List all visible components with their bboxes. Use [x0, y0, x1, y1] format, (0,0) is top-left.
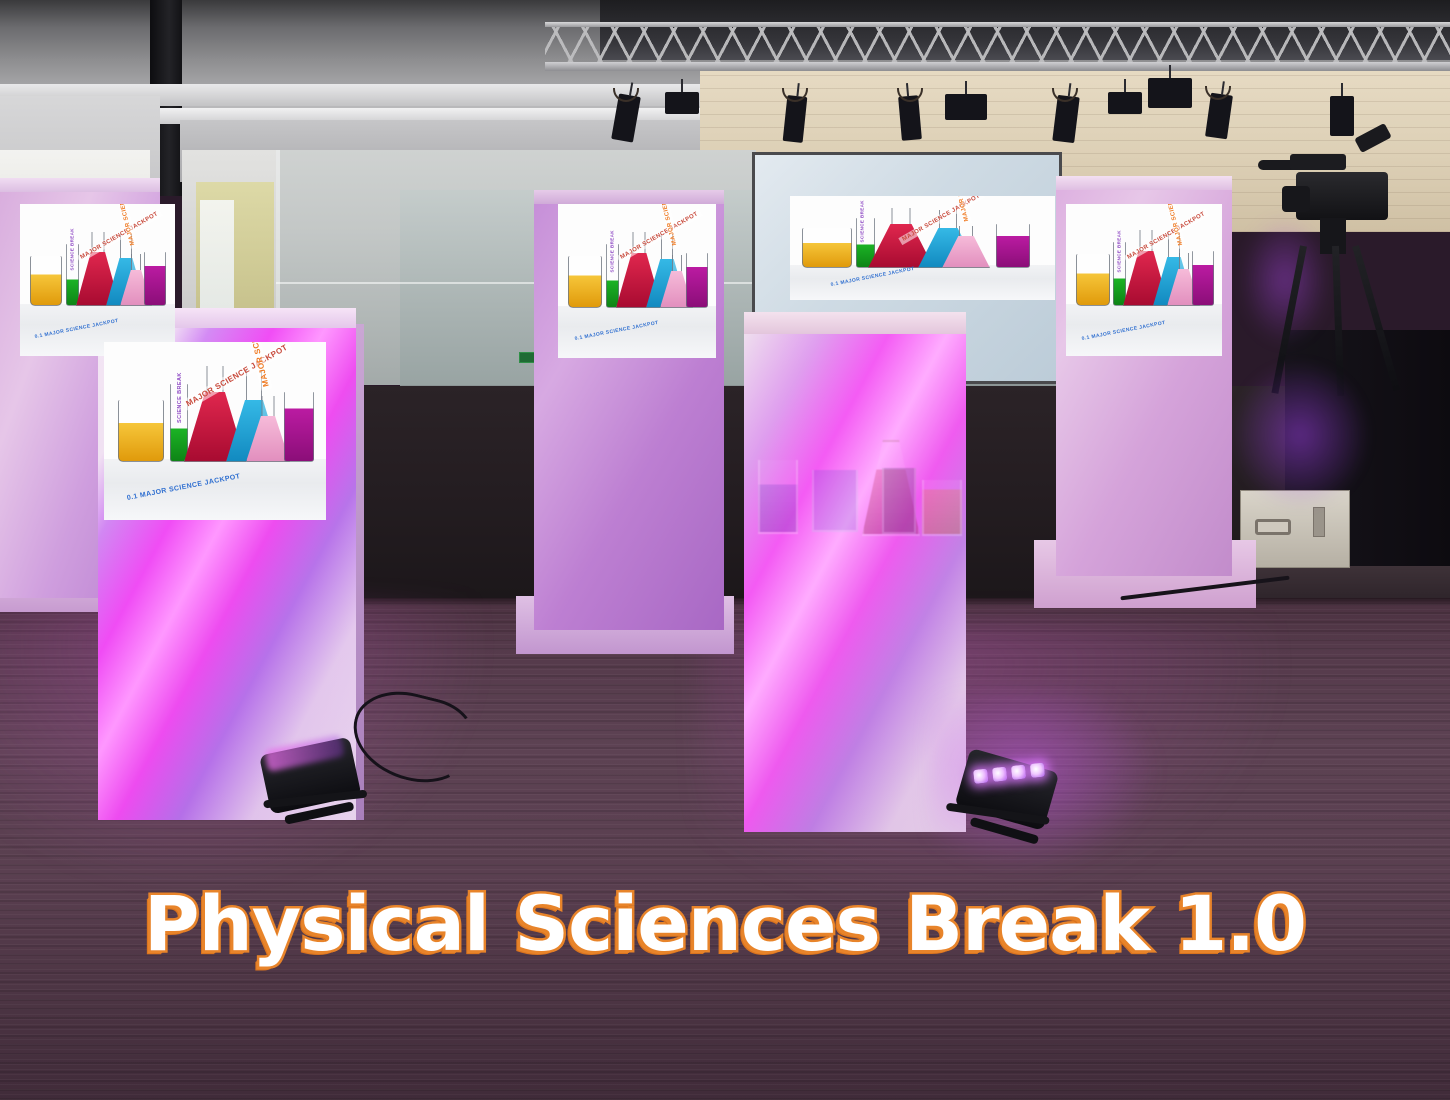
- stage-lamp-icon: [945, 94, 987, 120]
- camera-hood: [1290, 154, 1346, 170]
- science-image: MAJOR SCIENCE JACKPOT MAJOR SCIENCE BREA…: [790, 196, 1055, 300]
- stage-lamp-icon: [898, 95, 922, 141]
- led-emitter: [973, 769, 988, 784]
- beaker-amber: [1076, 254, 1110, 306]
- ghost-beaker-amber: [922, 480, 962, 536]
- science-image: MAJOR SCIENCE JACKPOT MAJOR SCIENCE BREA…: [558, 204, 716, 358]
- science-image-overlay-1: MAJOR SCIENCE JACKPOT MAJOR SCIENCE BREA…: [20, 204, 175, 356]
- bench-surface: [104, 459, 326, 520]
- led-emitter: [992, 767, 1007, 782]
- ghost-cylinder: [882, 468, 916, 534]
- science-image-overlay-4: MAJOR SCIENCE JACKPOT MAJOR SCIENCE BREA…: [790, 196, 1055, 300]
- plinth-top: [0, 178, 160, 192]
- beaker-amber: [568, 256, 602, 308]
- science-image-overlay-5: MAJOR SCIENCE JACKPOT MAJOR SCIENCE BREA…: [1066, 204, 1222, 356]
- purple-haze: [1230, 360, 1370, 510]
- cylinder-magenta: [1192, 251, 1214, 306]
- flask-neck: [131, 254, 141, 272]
- cylinder-magenta: [284, 392, 314, 462]
- plinth-top: [744, 312, 966, 334]
- flight-case-latch: [1313, 507, 1325, 537]
- beaker-amber: [118, 400, 164, 462]
- led-emitter: [1030, 763, 1045, 778]
- flask-neck: [262, 396, 275, 418]
- science-image-overlay-2: MAJOR SCIENCE JACKPOT MAJOR SCIENCE BREA…: [104, 342, 326, 520]
- science-image: MAJOR SCIENCE JACKPOT MAJOR SCIENCE BREA…: [20, 204, 175, 356]
- ghost-beaker: [758, 460, 798, 534]
- bench-surface: [790, 265, 1055, 300]
- cylinder-magenta: [686, 253, 708, 308]
- flask-pink: [942, 226, 990, 268]
- plinth-top: [534, 190, 724, 204]
- ghost-glassware-reflection: [754, 378, 960, 558]
- stage-lamp-icon: [1330, 96, 1354, 136]
- cylinder-magenta: [996, 224, 1030, 268]
- beaker-amber: [30, 256, 62, 306]
- camera-lens: [1282, 186, 1310, 212]
- bench-surface: [1066, 304, 1222, 356]
- science-image: MAJOR SCIENCE JACKPOT MAJOR SCIENCE BREA…: [1066, 204, 1222, 356]
- beaker-amber: [802, 228, 852, 268]
- flight-case-handle: [1255, 519, 1291, 535]
- flask-neck: [672, 255, 682, 273]
- stage-lamp-icon: [1148, 78, 1192, 108]
- page-title: Physical Sciences Break 1.0: [0, 886, 1450, 962]
- stage-lamp-icon: [1108, 92, 1142, 114]
- science-image: MAJOR SCIENCE JACKPOT MAJOR SCIENCE BREA…: [104, 342, 326, 520]
- screenshot-canvas: MAJOR SCIENCE JACKPOT MAJOR SCIENCE BREA…: [0, 0, 1450, 1100]
- cylinder-magenta: [144, 252, 166, 306]
- science-image-overlay-3: MAJOR SCIENCE JACKPOT MAJOR SCIENCE BREA…: [558, 204, 716, 358]
- flask-cone: [942, 236, 990, 268]
- led-emitter: [1011, 765, 1026, 780]
- plinth-top: [1056, 176, 1232, 190]
- bench-surface: [558, 306, 716, 358]
- stage-lamp-icon: [665, 92, 699, 114]
- ghost-flask: [812, 470, 858, 532]
- flask-neck: [1179, 253, 1189, 271]
- truss-bar: [545, 62, 1450, 71]
